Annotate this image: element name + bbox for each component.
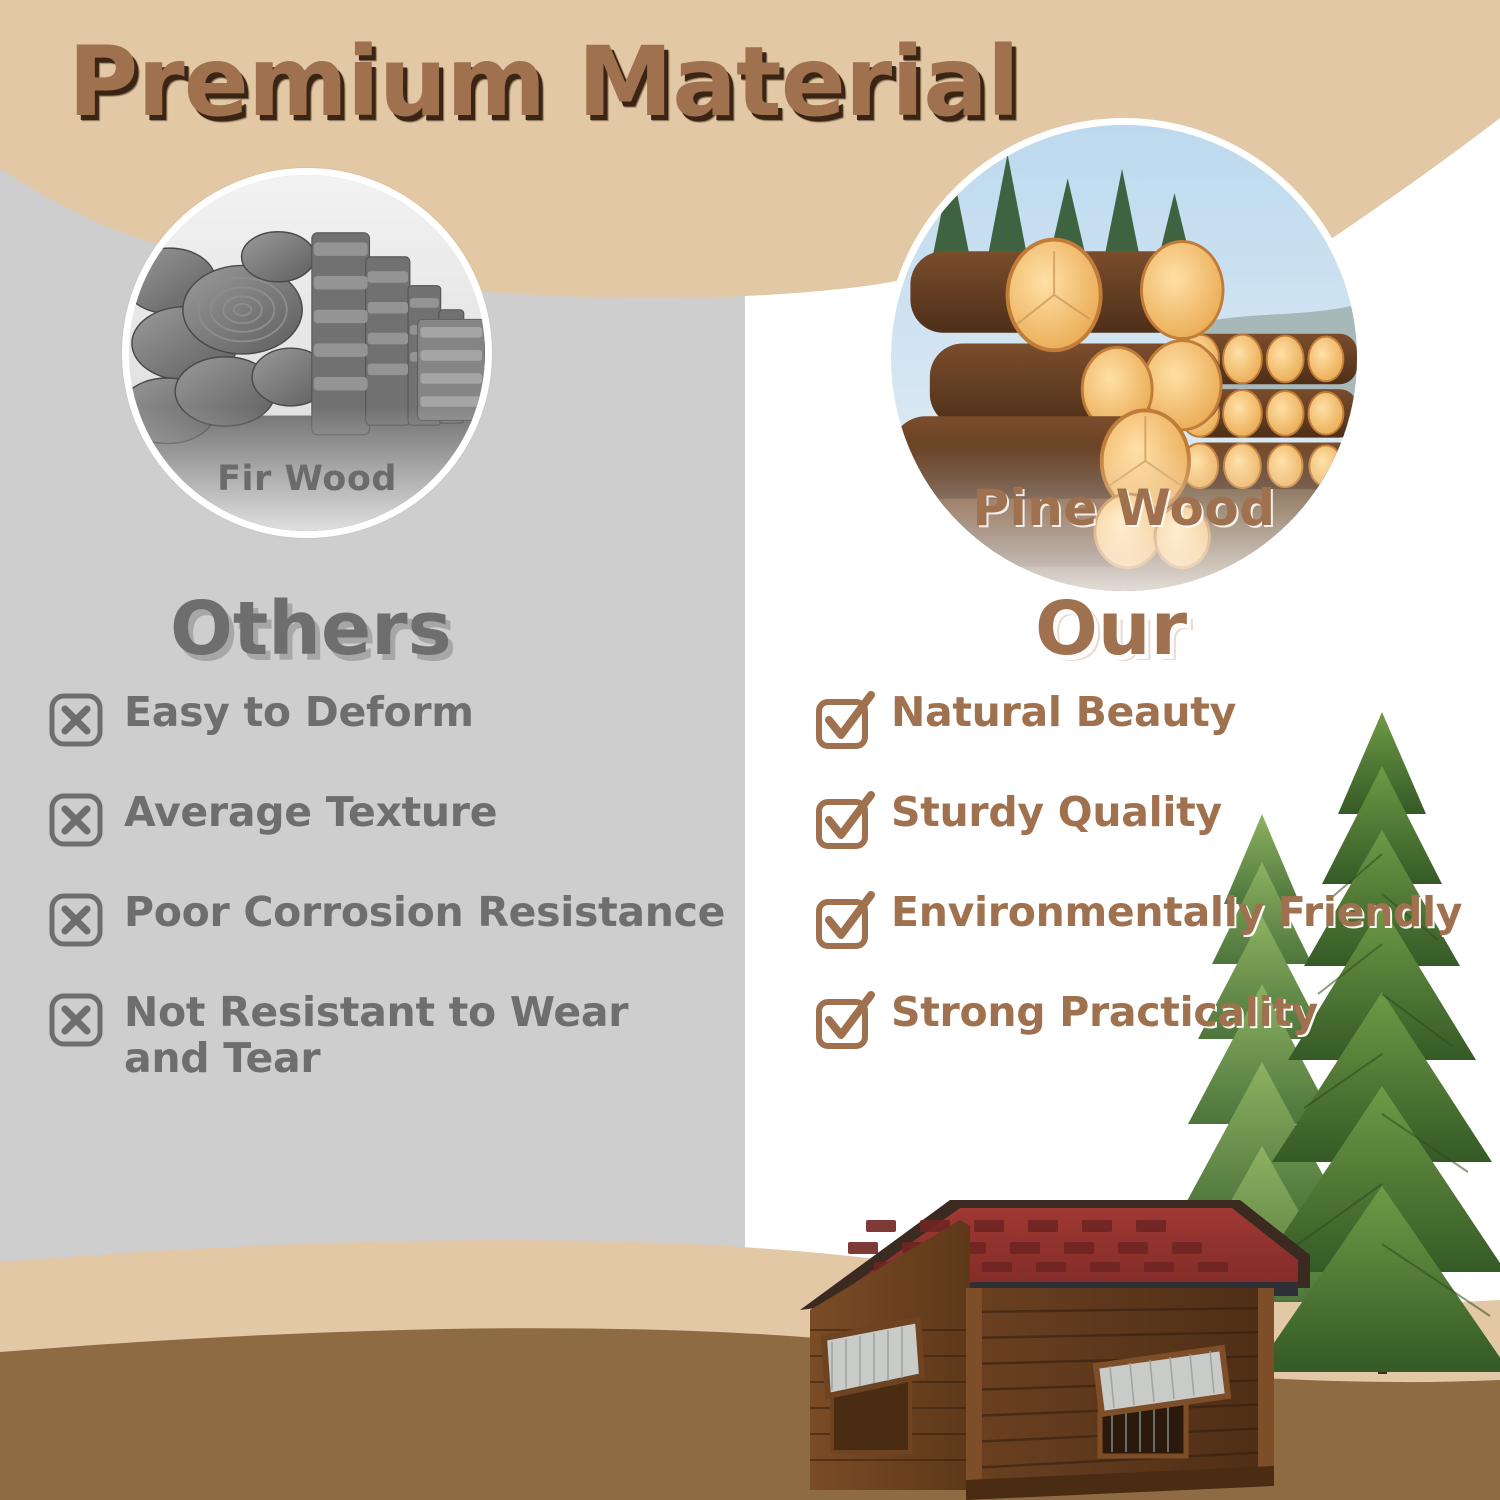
feature-label: Sturdy Quality xyxy=(891,790,1222,836)
feature-label: Poor Corrosion Resistance xyxy=(124,890,725,936)
feature-label: Not Resistant to Wear and Tear xyxy=(124,990,684,1082)
list-item: Natural Beauty xyxy=(815,690,1500,746)
others-feature-list: Easy to Deform Average Texture Poor Corr… xyxy=(48,690,748,1082)
x-box-icon xyxy=(48,992,104,1048)
feature-label: Easy to Deform xyxy=(124,690,474,736)
page-title: Premium Material xyxy=(68,26,1019,138)
x-box-icon xyxy=(48,892,104,948)
list-item: Average Texture xyxy=(48,790,748,846)
list-item: Poor Corrosion Resistance xyxy=(48,890,748,946)
fir-wood-caption: Fir Wood xyxy=(129,459,485,505)
list-item: Environmentally Friendly xyxy=(815,890,1500,946)
feature-label: Environmentally Friendly xyxy=(891,890,1462,936)
x-box-icon xyxy=(48,692,104,748)
check-box-icon xyxy=(815,892,871,948)
check-box-icon xyxy=(815,792,871,848)
others-heading: Others xyxy=(170,586,452,672)
check-box-icon xyxy=(815,692,871,748)
x-box-icon xyxy=(48,792,104,848)
fir-wood-circle: Fir Wood xyxy=(122,168,492,538)
feature-label: Average Texture xyxy=(124,790,497,836)
list-item: Easy to Deform xyxy=(48,690,748,746)
pine-wood-caption: Pine Wood xyxy=(891,479,1357,543)
our-feature-list: Natural Beauty Sturdy Quality Environmen… xyxy=(815,690,1500,1046)
check-box-icon xyxy=(815,992,871,1048)
list-item: Not Resistant to Wear and Tear xyxy=(48,990,748,1082)
list-item: Strong Practicality xyxy=(815,990,1500,1046)
list-item: Sturdy Quality xyxy=(815,790,1500,846)
pine-wood-circle: Pine Wood xyxy=(884,118,1364,598)
infographic-canvas: Premium Material xyxy=(0,0,1500,1500)
feature-label: Strong Practicality xyxy=(891,990,1318,1036)
our-heading: Our xyxy=(1035,586,1187,672)
feature-label: Natural Beauty xyxy=(891,690,1236,736)
